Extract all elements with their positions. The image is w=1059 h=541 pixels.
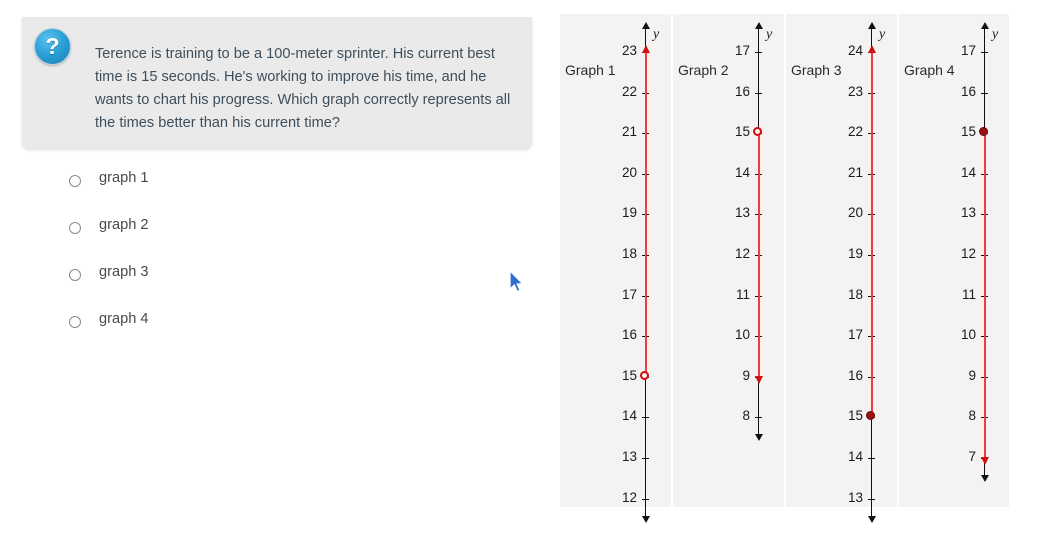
y-axis-label: y bbox=[653, 27, 659, 43]
axis-tick-label: 13 bbox=[938, 205, 976, 220]
axis-arrow-down-icon bbox=[642, 516, 650, 523]
axis-tick-label: 14 bbox=[825, 449, 863, 464]
axis-tick bbox=[642, 417, 649, 418]
axis-tick-label: 23 bbox=[599, 43, 637, 58]
graph-strip: Graph 1y232221201918171615141312 Graph 2… bbox=[560, 14, 1009, 507]
question-text: Terence is training to be a 100-meter sp… bbox=[95, 43, 515, 135]
option-row-graph-2[interactable]: graph 2 bbox=[69, 215, 369, 262]
axis-arrow-up-icon bbox=[642, 22, 650, 29]
axis-tick-label: 18 bbox=[825, 287, 863, 302]
radio-button-graph-1[interactable] bbox=[69, 175, 81, 187]
axis-tick bbox=[981, 52, 988, 53]
axis-tick-label: 13 bbox=[825, 490, 863, 505]
inequality-ray bbox=[984, 133, 986, 458]
axis-tick-label: 20 bbox=[825, 205, 863, 220]
axis-arrow-up-icon bbox=[868, 22, 876, 29]
axis-tick-label: 15 bbox=[938, 124, 976, 139]
axis-tick-label: 9 bbox=[938, 368, 976, 383]
axis-tick-label: 16 bbox=[825, 368, 863, 383]
axis-tick bbox=[755, 417, 762, 418]
graph-title: Graph 3 bbox=[791, 62, 842, 78]
inequality-ray bbox=[645, 52, 647, 377]
axis-tick-label: 16 bbox=[712, 84, 750, 99]
option-row-graph-4[interactable]: graph 4 bbox=[69, 309, 369, 356]
axis-tick-label: 9 bbox=[712, 368, 750, 383]
axis-tick-label: 22 bbox=[825, 124, 863, 139]
axis-tick-label: 19 bbox=[599, 205, 637, 220]
graph-panel-2[interactable]: Graph 2y171615141312111098 bbox=[673, 14, 784, 507]
closed-endpoint-dot bbox=[979, 127, 988, 136]
y-axis-label: y bbox=[992, 27, 998, 43]
axis-tick bbox=[642, 458, 649, 459]
axis-tick bbox=[868, 458, 875, 459]
graph-panel-4[interactable]: Graph 4y1716151413121110987 bbox=[899, 14, 1009, 507]
graph-title: Graph 4 bbox=[904, 62, 955, 78]
inequality-ray bbox=[871, 52, 873, 417]
option-label-graph-2: graph 2 bbox=[99, 215, 149, 235]
axis-tick-label: 20 bbox=[599, 165, 637, 180]
y-axis-label: y bbox=[766, 27, 772, 43]
axis-tick-label: 13 bbox=[712, 205, 750, 220]
graph-panel-3[interactable]: Graph 3y242322212019181716151413 bbox=[786, 14, 897, 507]
axis-tick-label: 10 bbox=[938, 327, 976, 342]
axis-tick-label: 21 bbox=[825, 165, 863, 180]
axis-tick-label: 17 bbox=[599, 287, 637, 302]
axis-arrow-down-icon bbox=[981, 475, 989, 482]
axis-tick-label: 22 bbox=[599, 84, 637, 99]
open-endpoint-dot bbox=[753, 127, 762, 136]
answer-options-list: graph 1 graph 2 graph 3 graph 4 bbox=[69, 168, 369, 356]
page-root: ? Terence is training to be a 100-meter … bbox=[0, 0, 1059, 541]
option-row-graph-3[interactable]: graph 3 bbox=[69, 262, 369, 309]
option-label-graph-3: graph 3 bbox=[99, 262, 149, 282]
axis-tick-label: 16 bbox=[599, 327, 637, 342]
graph-panel-1[interactable]: Graph 1y232221201918171615141312 bbox=[560, 14, 671, 507]
closed-endpoint-dot bbox=[866, 411, 875, 420]
mouse-cursor bbox=[508, 270, 526, 295]
axis-tick-label: 16 bbox=[938, 84, 976, 99]
axis-tick-label: 11 bbox=[712, 287, 750, 302]
axis-arrow-up-icon bbox=[755, 22, 763, 29]
axis-tick-label: 12 bbox=[712, 246, 750, 261]
axis-tick bbox=[755, 52, 762, 53]
question-mark-glyph: ? bbox=[35, 29, 70, 64]
axis-tick-label: 15 bbox=[825, 408, 863, 423]
axis-tick-label: 8 bbox=[712, 408, 750, 423]
axis-tick-label: 19 bbox=[825, 246, 863, 261]
graph-title: Graph 1 bbox=[565, 62, 616, 78]
axis-tick-label: 17 bbox=[938, 43, 976, 58]
axis-tick-label: 12 bbox=[938, 246, 976, 261]
radio-button-graph-4[interactable] bbox=[69, 316, 81, 328]
option-row-graph-1[interactable]: graph 1 bbox=[69, 168, 369, 215]
axis-tick-label: 15 bbox=[712, 124, 750, 139]
axis-tick-label: 7 bbox=[938, 449, 976, 464]
ray-arrow-up-icon bbox=[642, 45, 650, 53]
ray-arrow-down-icon bbox=[981, 457, 989, 465]
option-label-graph-4: graph 4 bbox=[99, 309, 149, 329]
radio-button-graph-2[interactable] bbox=[69, 222, 81, 234]
axis-tick bbox=[755, 93, 762, 94]
open-endpoint-dot bbox=[640, 371, 649, 380]
radio-button-graph-3[interactable] bbox=[69, 269, 81, 281]
axis-tick-label: 24 bbox=[825, 43, 863, 58]
inequality-ray bbox=[758, 133, 760, 377]
axis-arrow-down-icon bbox=[755, 434, 763, 441]
axis-tick-label: 21 bbox=[599, 124, 637, 139]
ray-arrow-down-icon bbox=[755, 376, 763, 384]
graph-title: Graph 2 bbox=[678, 62, 729, 78]
axis-tick-label: 23 bbox=[825, 84, 863, 99]
axis-arrow-down-icon bbox=[868, 516, 876, 523]
ray-arrow-up-icon bbox=[868, 45, 876, 53]
axis-tick-label: 14 bbox=[712, 165, 750, 180]
axis-tick-label: 17 bbox=[825, 327, 863, 342]
axis-tick-label: 14 bbox=[938, 165, 976, 180]
axis-tick-label: 10 bbox=[712, 327, 750, 342]
axis-tick bbox=[981, 93, 988, 94]
axis-arrow-up-icon bbox=[981, 22, 989, 29]
question-panel: ? Terence is training to be a 100-meter … bbox=[22, 17, 532, 148]
axis-tick-label: 8 bbox=[938, 408, 976, 423]
axis-tick-label: 12 bbox=[599, 490, 637, 505]
option-label-graph-1: graph 1 bbox=[99, 168, 149, 188]
axis-tick bbox=[642, 499, 649, 500]
question-mark-icon: ? bbox=[34, 28, 71, 65]
y-axis-label: y bbox=[879, 27, 885, 43]
axis-tick-label: 18 bbox=[599, 246, 637, 261]
axis-tick bbox=[868, 499, 875, 500]
axis-tick-label: 15 bbox=[599, 368, 637, 383]
axis-tick-label: 14 bbox=[599, 408, 637, 423]
axis-tick-label: 11 bbox=[938, 287, 976, 302]
axis-tick-label: 17 bbox=[712, 43, 750, 58]
axis-tick-label: 13 bbox=[599, 449, 637, 464]
